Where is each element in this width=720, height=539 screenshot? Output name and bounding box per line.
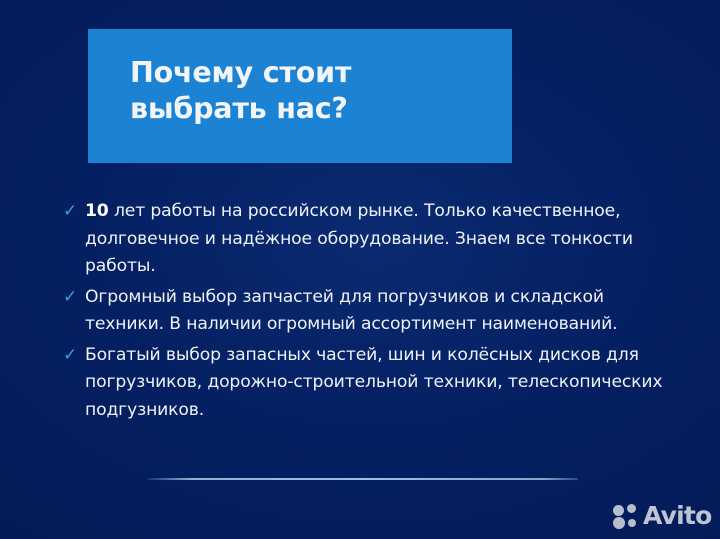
list-item-body: Огромный выбор запчастей для погрузчиков… <box>85 287 617 335</box>
list-item-text: 10 лет работы на российском рынке. Тольк… <box>85 198 676 281</box>
list-item-body: лет работы на российском рынке. Только к… <box>85 201 633 276</box>
avito-watermark: Avito <box>613 499 711 533</box>
list-item: ✓ Богатый выбор запасных частей, шин и к… <box>62 342 676 425</box>
page-title: Почему стоит выбрать нас? <box>130 55 490 127</box>
list-item-body: Богатый выбор запасных частей, шин и кол… <box>85 345 662 420</box>
benefits-list: ✓ 10 лет работы на российском рынке. Тол… <box>62 198 676 427</box>
header-banner: Почему стоит выбрать нас? <box>88 29 512 163</box>
avito-wordmark: Avito <box>643 503 711 529</box>
list-item: ✓ Огромный выбор запчастей для погрузчик… <box>62 284 676 339</box>
check-icon: ✓ <box>62 342 85 370</box>
list-item-text: Огромный выбор запчастей для погрузчиков… <box>85 284 676 339</box>
check-icon: ✓ <box>62 198 85 226</box>
avito-dots-icon <box>613 504 640 528</box>
check-icon: ✓ <box>62 284 85 312</box>
list-item: ✓ 10 лет работы на российском рынке. Тол… <box>62 198 676 281</box>
divider <box>148 478 578 480</box>
list-item-text: Богатый выбор запасных частей, шин и кол… <box>85 342 676 425</box>
list-item-lead: 10 <box>85 201 109 221</box>
slide-canvas: Почему стоит выбрать нас? ✓ 10 лет работ… <box>0 0 720 539</box>
